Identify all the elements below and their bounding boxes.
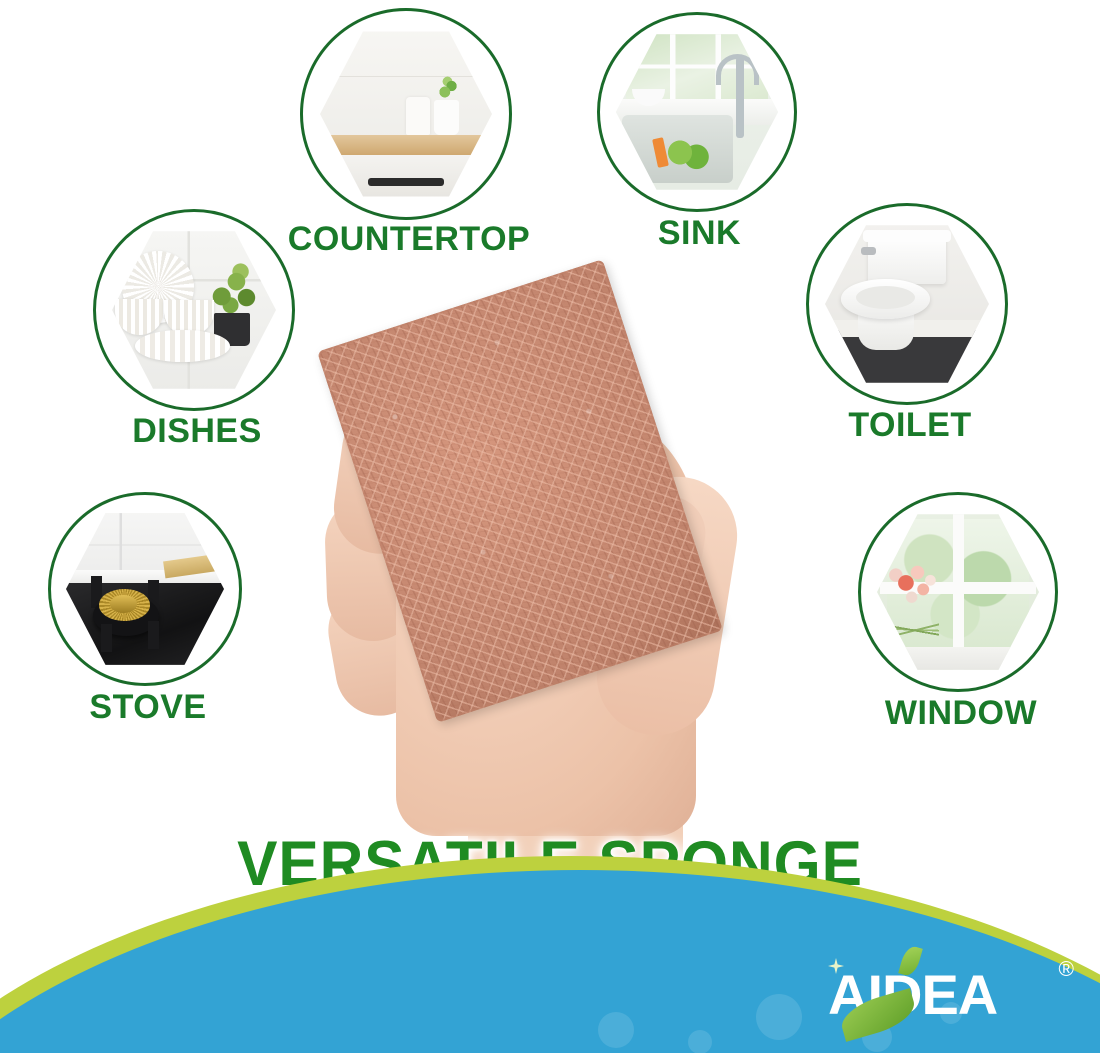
- product-infographic: COUNTERTOP SINK: [0, 0, 1100, 1053]
- countertop-handle: [368, 178, 444, 187]
- banner-bubble: [598, 1012, 634, 1048]
- badge-label-window: WINDOW: [885, 694, 1037, 733]
- badge-label-sink: SINK: [658, 214, 741, 253]
- badge-label-dishes: DISHES: [132, 412, 262, 451]
- badge-sink[interactable]: SINK: [597, 12, 802, 274]
- toilet-flush-lever: [861, 247, 876, 255]
- countertop-jar: [406, 97, 430, 135]
- countertop-pot: [434, 100, 460, 134]
- badge-label-toilet: TOILET: [848, 406, 971, 445]
- badge-stove[interactable]: STOVE: [48, 492, 248, 744]
- sink-vegetables: [658, 131, 713, 173]
- sink-faucet: [736, 57, 744, 138]
- countertop-wood-surface: [320, 135, 492, 156]
- badge-label-countertop: COUNTERTOP: [288, 220, 530, 259]
- registered-trademark-icon: ®: [1059, 958, 1074, 982]
- stove-burner-cap: [110, 595, 137, 612]
- badge-label-stove: STOVE: [89, 688, 206, 727]
- brand-logo[interactable]: AIDEA ®: [828, 958, 1078, 1040]
- stove-grate: [101, 624, 112, 652]
- stove-grate: [148, 621, 159, 649]
- page-title: VERSATILE SPONGE: [22, 828, 1078, 900]
- badge-window[interactable]: WINDOW: [858, 492, 1064, 750]
- toilet-tank-lid: [863, 230, 952, 241]
- toilet-tank: [868, 235, 947, 284]
- toilet-seat-opening: [856, 286, 915, 309]
- banner-bubble: [688, 1030, 712, 1053]
- badge-dishes[interactable]: DISHES: [93, 209, 301, 467]
- banner-bubble: [756, 994, 802, 1040]
- badge-countertop[interactable]: COUNTERTOP: [300, 8, 518, 270]
